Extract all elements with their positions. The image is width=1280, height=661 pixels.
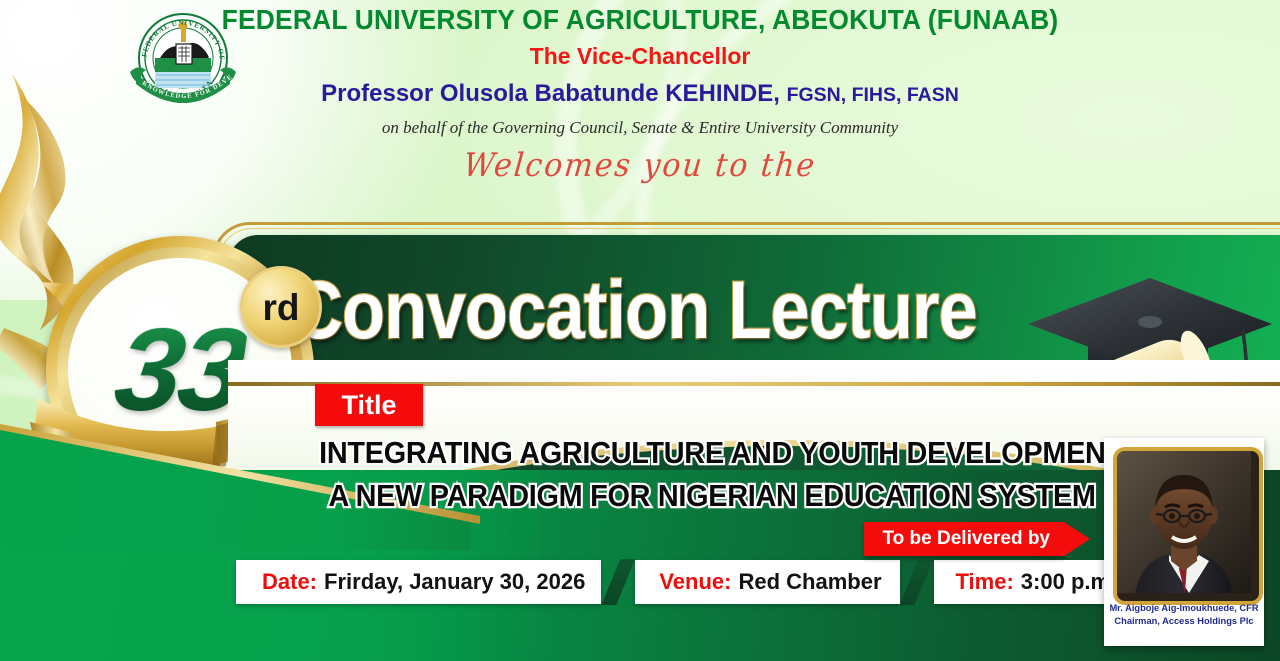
speaker-name: Mr. Aigboje Aig-Imoukhuede, CFR bbox=[1104, 602, 1264, 615]
venue-value: Red Chamber bbox=[738, 569, 881, 595]
speaker-portrait bbox=[1117, 451, 1251, 593]
detail-separator-1 bbox=[601, 560, 635, 604]
date-value: Frirday, January 30, 2026 bbox=[324, 569, 585, 595]
time-label: Time: bbox=[956, 569, 1014, 595]
convocation-lecture-poster: FEDERAL UNIVERSITY OF AGRICULTURE ABEOKU… bbox=[0, 0, 1280, 661]
ordinal-suffix-text: rd bbox=[263, 289, 300, 326]
title-label-text: Title bbox=[341, 390, 396, 421]
detail-chip-date: Date: Frirday, January 30, 2026 bbox=[236, 560, 601, 604]
lecture-title-line-2: A NEW PARADIGM FOR NIGERIAN EDUCATION SY… bbox=[228, 475, 1206, 518]
delivered-by-banner: To be Delivered by bbox=[864, 522, 1090, 556]
event-details-bar: Date: Frirday, January 30, 2026 Venue: R… bbox=[236, 560, 1142, 604]
convocation-lecture-text: Convocation Lecture bbox=[292, 264, 977, 358]
lecture-title-line-1: INTEGRATING AGRICULTURE AND YOUTH DEVELO… bbox=[228, 432, 1206, 475]
institution-name: FEDERAL UNIVERSITY OF AGRICULTURE, ABEOK… bbox=[26, 4, 1255, 36]
detail-separator-2 bbox=[900, 560, 934, 604]
title-label-tag: Title bbox=[315, 384, 423, 426]
speaker-photo-frame bbox=[1113, 447, 1263, 605]
vc-postnominals: FGSN, FIHS, FASN bbox=[787, 84, 959, 106]
date-label: Date: bbox=[262, 569, 317, 595]
time-value: 3:00 p.m. bbox=[1021, 569, 1116, 595]
speaker-caption: Mr. Aigboje Aig-Imoukhuede, CFR Chairman… bbox=[1104, 602, 1264, 628]
convocation-lecture-heading: Convocation Lecture bbox=[292, 258, 1032, 363]
delivered-by-text: To be Delivered by bbox=[882, 528, 1050, 550]
speaker-title: Chairman, Access Holdings Plc bbox=[1104, 615, 1264, 628]
ordinal-suffix-badge: rd bbox=[240, 266, 322, 348]
delivered-by-arrow-tip bbox=[1064, 522, 1090, 556]
venue-label: Venue: bbox=[659, 569, 731, 595]
vc-name-text: Professor Olusola Babatunde KEHINDE, bbox=[321, 80, 780, 107]
detail-chip-venue: Venue: Red Chamber bbox=[635, 560, 899, 604]
speaker-card: Mr. Aigboje Aig-Imoukhuede, CFR Chairman… bbox=[1104, 438, 1264, 646]
delivered-by-body: To be Delivered by bbox=[864, 522, 1064, 556]
